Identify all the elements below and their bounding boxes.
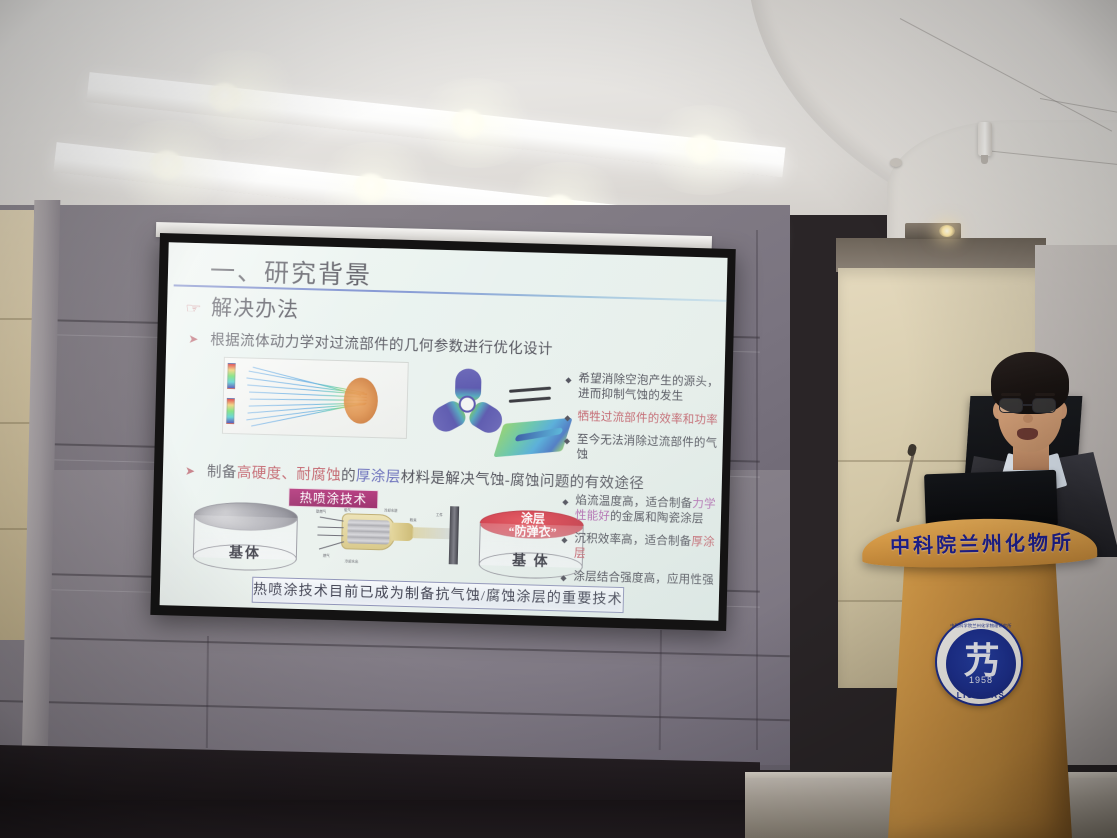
list-item: 沉积效率高，适合制备厚涂层: [561, 531, 724, 566]
glasses-lens-right: [1032, 398, 1056, 413]
substrate-cylinder-left: 基体: [194, 501, 298, 504]
b1-c: 的金属和陶瓷涂层: [610, 511, 704, 526]
flow-line: [509, 397, 551, 403]
gun-tick: 氧气: [344, 507, 351, 512]
logo-year: 1958: [946, 675, 1016, 685]
projection-screen-frame: 一、研究背景 ☞ 解决办法 ➤ 根据流体动力学对过流部件的几何参数进行优化设计: [150, 233, 735, 631]
projection-screen: 一、研究背景 ☞ 解决办法 ➤ 根据流体动力学对过流部件的几何参数进行优化设计: [160, 242, 728, 620]
eyebrow-right: [1035, 393, 1055, 396]
slide-point-2-bullets: 焰流温度高，适合制备力学性能好的金属和陶瓷涂层 沉积效率高，适合制备厚涂层 涂层…: [560, 493, 724, 596]
gun-tick: 助燃气: [316, 508, 326, 513]
ceiling-speaker: [978, 122, 992, 156]
slide-section-heading: 解决办法: [211, 291, 300, 323]
logo-english: LICP CAS: [937, 691, 1025, 700]
slide-point-1: 根据流体动力学对过流部件的几何参数进行优化设计: [210, 328, 553, 359]
presentation-slide: 一、研究背景 ☞ 解决办法 ➤ 根据流体动力学对过流部件的几何参数进行优化设计: [160, 242, 728, 620]
list-item: 焰流温度高，适合制备力学性能好的金属和陶瓷涂层: [562, 493, 725, 528]
gun-tick: 冷却水进: [384, 507, 398, 512]
spray-gun-diagram: 助燃气 氧气 冷却水进 粉末 工件 燃气 冷却水出: [313, 500, 475, 566]
smoke-detector-icon: [890, 158, 902, 167]
slide-point-1-bullets: 希望消除空泡产生的源头，进而抑制气蚀的发生 牺牲过流部件的效率和功率 至今无法消…: [563, 371, 725, 474]
impeller-diagram: [432, 370, 504, 438]
right-wall-header-band: [836, 238, 1046, 272]
mouth: [1017, 428, 1038, 440]
podium-venue-sign: 中科院兰州化物所: [868, 526, 1097, 560]
flow-line: [509, 387, 551, 393]
glasses-lens-left: [999, 398, 1023, 413]
institute-logo: 中国科学院兰州化学物理研究所 艿 1958 LICP CAS: [935, 618, 1023, 706]
nose: [1023, 414, 1033, 423]
list-item: 至今无法消除过流部件的气蚀: [563, 432, 724, 466]
arrow-bullet-icon: ➤: [185, 464, 195, 478]
point2-a: 制备: [207, 464, 237, 481]
list-item: 希望消除空泡产生的源头，进而抑制气蚀的发生: [565, 371, 726, 405]
ceiling-spotlight: [905, 223, 961, 239]
substrate-label: 基体: [193, 541, 297, 564]
point2-c: 的: [341, 468, 356, 484]
pointing-hand-icon: ☞: [185, 300, 202, 317]
point2-d: 厚涂层: [356, 469, 401, 486]
ceiling: [0, 0, 1117, 215]
b1-a: 焰流温度高，适合制备: [575, 495, 692, 510]
b2-a: 沉积效率高，适合制备: [574, 533, 691, 548]
list-item: 牺牲过流部件的效率和功率: [564, 409, 724, 428]
blade-3d-diagram: [493, 418, 572, 458]
lecture-room-photo: 一、研究背景 ☞ 解决办法 ➤ 根据流体动力学对过流部件的几何参数进行优化设计: [0, 0, 1117, 838]
arrow-bullet-icon: ➤: [188, 332, 198, 346]
eyebrow-left: [1001, 393, 1021, 396]
cfd-streamlines: [245, 364, 387, 434]
point2-b: 高硬度、耐腐蚀: [237, 465, 342, 484]
cfd-simulation-figure: [222, 357, 409, 439]
gun-tick: 燃气: [323, 553, 330, 558]
gun-tick: 冷却水出: [345, 558, 359, 563]
gun-tick: 工件: [436, 512, 443, 517]
gun-tick: 粉末: [410, 517, 417, 522]
point2-e: 材料是解决气蚀-腐蚀问题的有效途径: [400, 470, 644, 493]
wall-vertical-seam: [756, 230, 758, 750]
logo-inner-disc: 艿 1958: [946, 629, 1016, 699]
glasses-bridge: [1023, 404, 1032, 406]
